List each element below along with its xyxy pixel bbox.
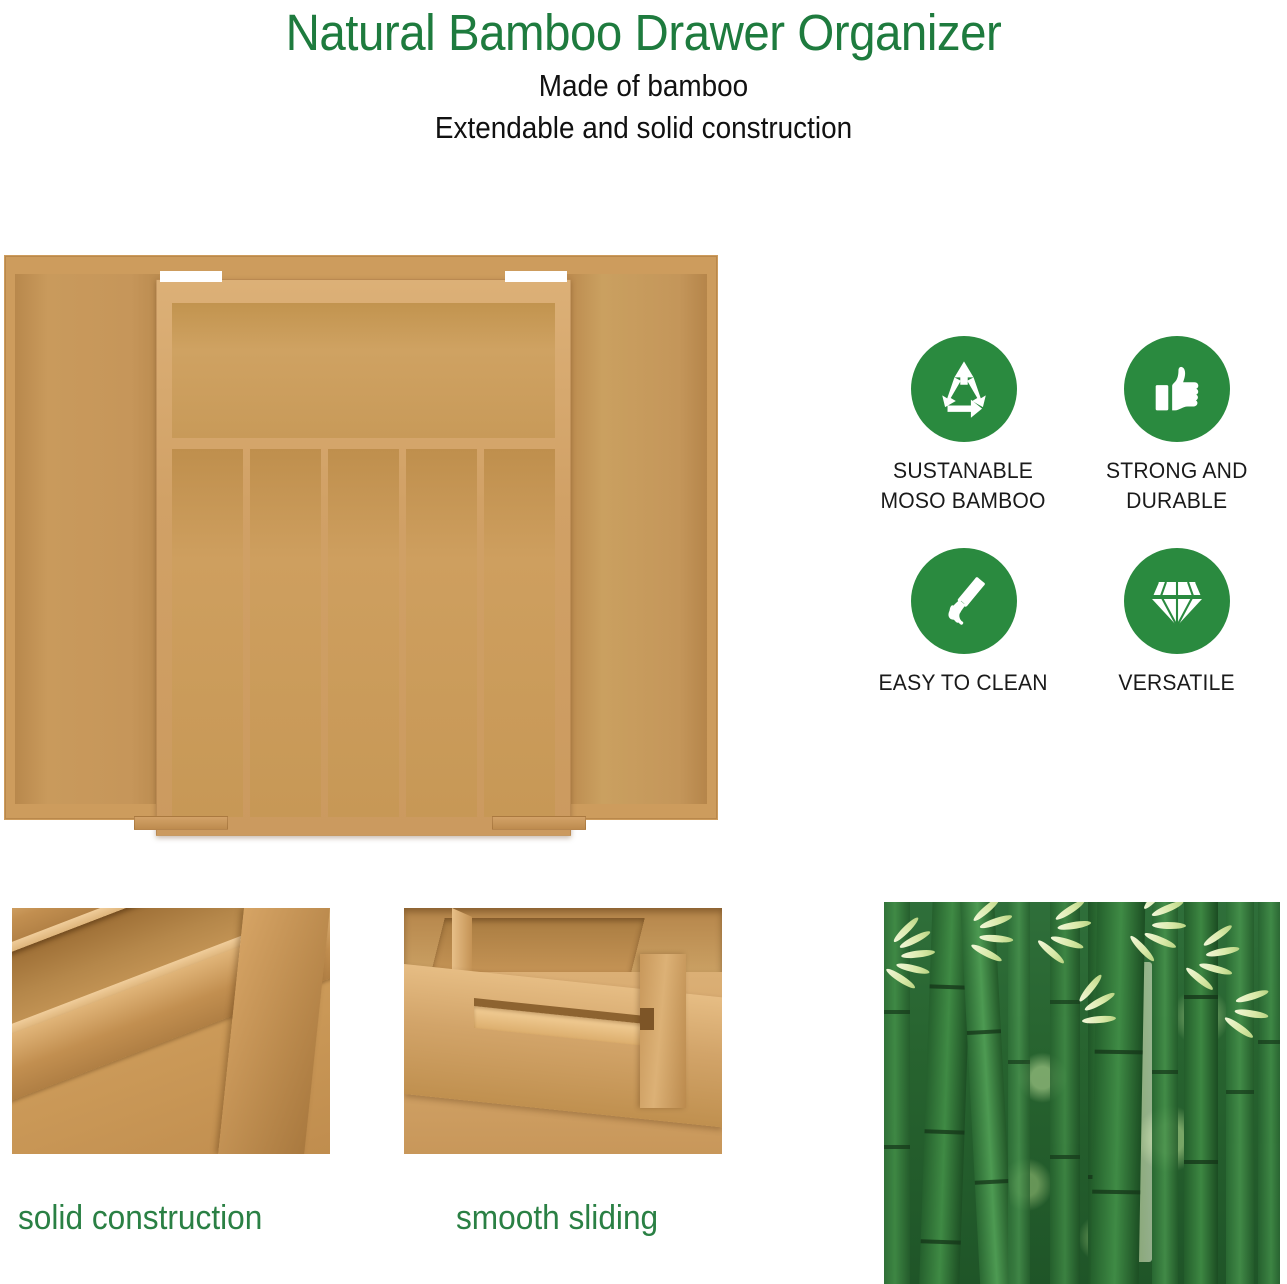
feature-label: EASY TO CLEAN: [879, 668, 1048, 698]
feature-label: STRONG AND DURABLE: [1106, 456, 1248, 516]
bamboo-culm: [1152, 902, 1178, 1284]
compartment-slot-surface: [484, 449, 555, 817]
feature-label-line1: SUSTANABLE: [893, 458, 1033, 483]
right-compartment-surface: [567, 274, 707, 804]
compartment-slot: [484, 449, 555, 817]
bamboo-culm: [884, 902, 910, 1284]
left-expansion-compartment: [15, 274, 163, 804]
smooth-sliding-photo: [404, 908, 722, 1154]
compartment-slot-surface: [406, 449, 477, 817]
thumbs-up-icon: [1124, 336, 1230, 442]
product-photo-main: [4, 252, 716, 830]
feature-label: SUSTANABLE MOSO BAMBOO: [881, 456, 1046, 516]
post-notch: [640, 1008, 654, 1030]
bamboo-culm: [1184, 902, 1218, 1284]
bamboo-culm: [1008, 902, 1030, 1284]
subtitle-made-of-bamboo: Made of bamboo: [64, 66, 1222, 106]
page-title: Natural Bamboo Drawer Organizer: [45, 0, 1242, 62]
wide-top-compartment: [172, 303, 555, 438]
feature-label-line1: EASY TO CLEAN: [879, 670, 1048, 695]
compartment-slot: [250, 449, 321, 817]
compartment-slot-surface: [250, 449, 321, 817]
compartment-slot-surface: [328, 449, 399, 817]
compartment-slot: [328, 449, 399, 817]
bamboo-culm: [1226, 902, 1254, 1284]
compartment-slot-surface: [172, 449, 243, 817]
feature-easy-to-clean: EASY TO CLEAN: [860, 548, 1067, 698]
extension-runner-left: [134, 816, 228, 830]
feature-label-line1: STRONG AND: [1106, 458, 1248, 483]
compartment-row: [172, 449, 555, 817]
recycle-icon: [911, 336, 1017, 442]
feature-versatile: VERSATILE: [1073, 548, 1280, 698]
brush-icon: [911, 548, 1017, 654]
feature-sustainable-moso-bamboo: SUSTANABLE MOSO BAMBOO: [860, 336, 1067, 516]
corner-post: [640, 954, 686, 1108]
feature-label-line1: VERSATILE: [1118, 670, 1234, 695]
feature-icon-grid: SUSTANABLE MOSO BAMBOO STRONG AND DURABL…: [860, 336, 1280, 698]
subtitle-extendable-construction: Extendable and solid construction: [64, 108, 1222, 148]
bamboo-culm: [1258, 902, 1280, 1284]
bamboo-culm: [1091, 902, 1146, 1284]
right-expansion-compartment: [567, 274, 707, 804]
diamond-icon: [1124, 548, 1230, 654]
tray-notch-left: [160, 271, 222, 282]
feature-strong-and-durable: STRONG AND DURABLE: [1073, 336, 1280, 516]
extension-runner-right: [492, 816, 586, 830]
caption-solid-construction: solid construction: [18, 1198, 262, 1238]
header: Natural Bamboo Drawer Organizer Made of …: [0, 0, 1287, 148]
feature-label-line2: DURABLE: [1126, 488, 1227, 513]
feature-label-line2: MOSO BAMBOO: [881, 488, 1046, 513]
bamboo-forest-photo: [884, 902, 1280, 1284]
solid-construction-photo: [12, 908, 330, 1154]
compartment-slot: [172, 449, 243, 817]
caption-smooth-sliding: smooth sliding: [456, 1198, 658, 1238]
inner-cutlery-tray: [156, 279, 571, 836]
wide-top-compartment-surface: [172, 303, 555, 438]
feature-label: VERSATILE: [1118, 668, 1234, 698]
tray-notch-right: [505, 271, 567, 282]
compartment-slot: [406, 449, 477, 817]
left-compartment-surface: [15, 274, 163, 804]
outer-expandable-frame: [4, 255, 718, 820]
